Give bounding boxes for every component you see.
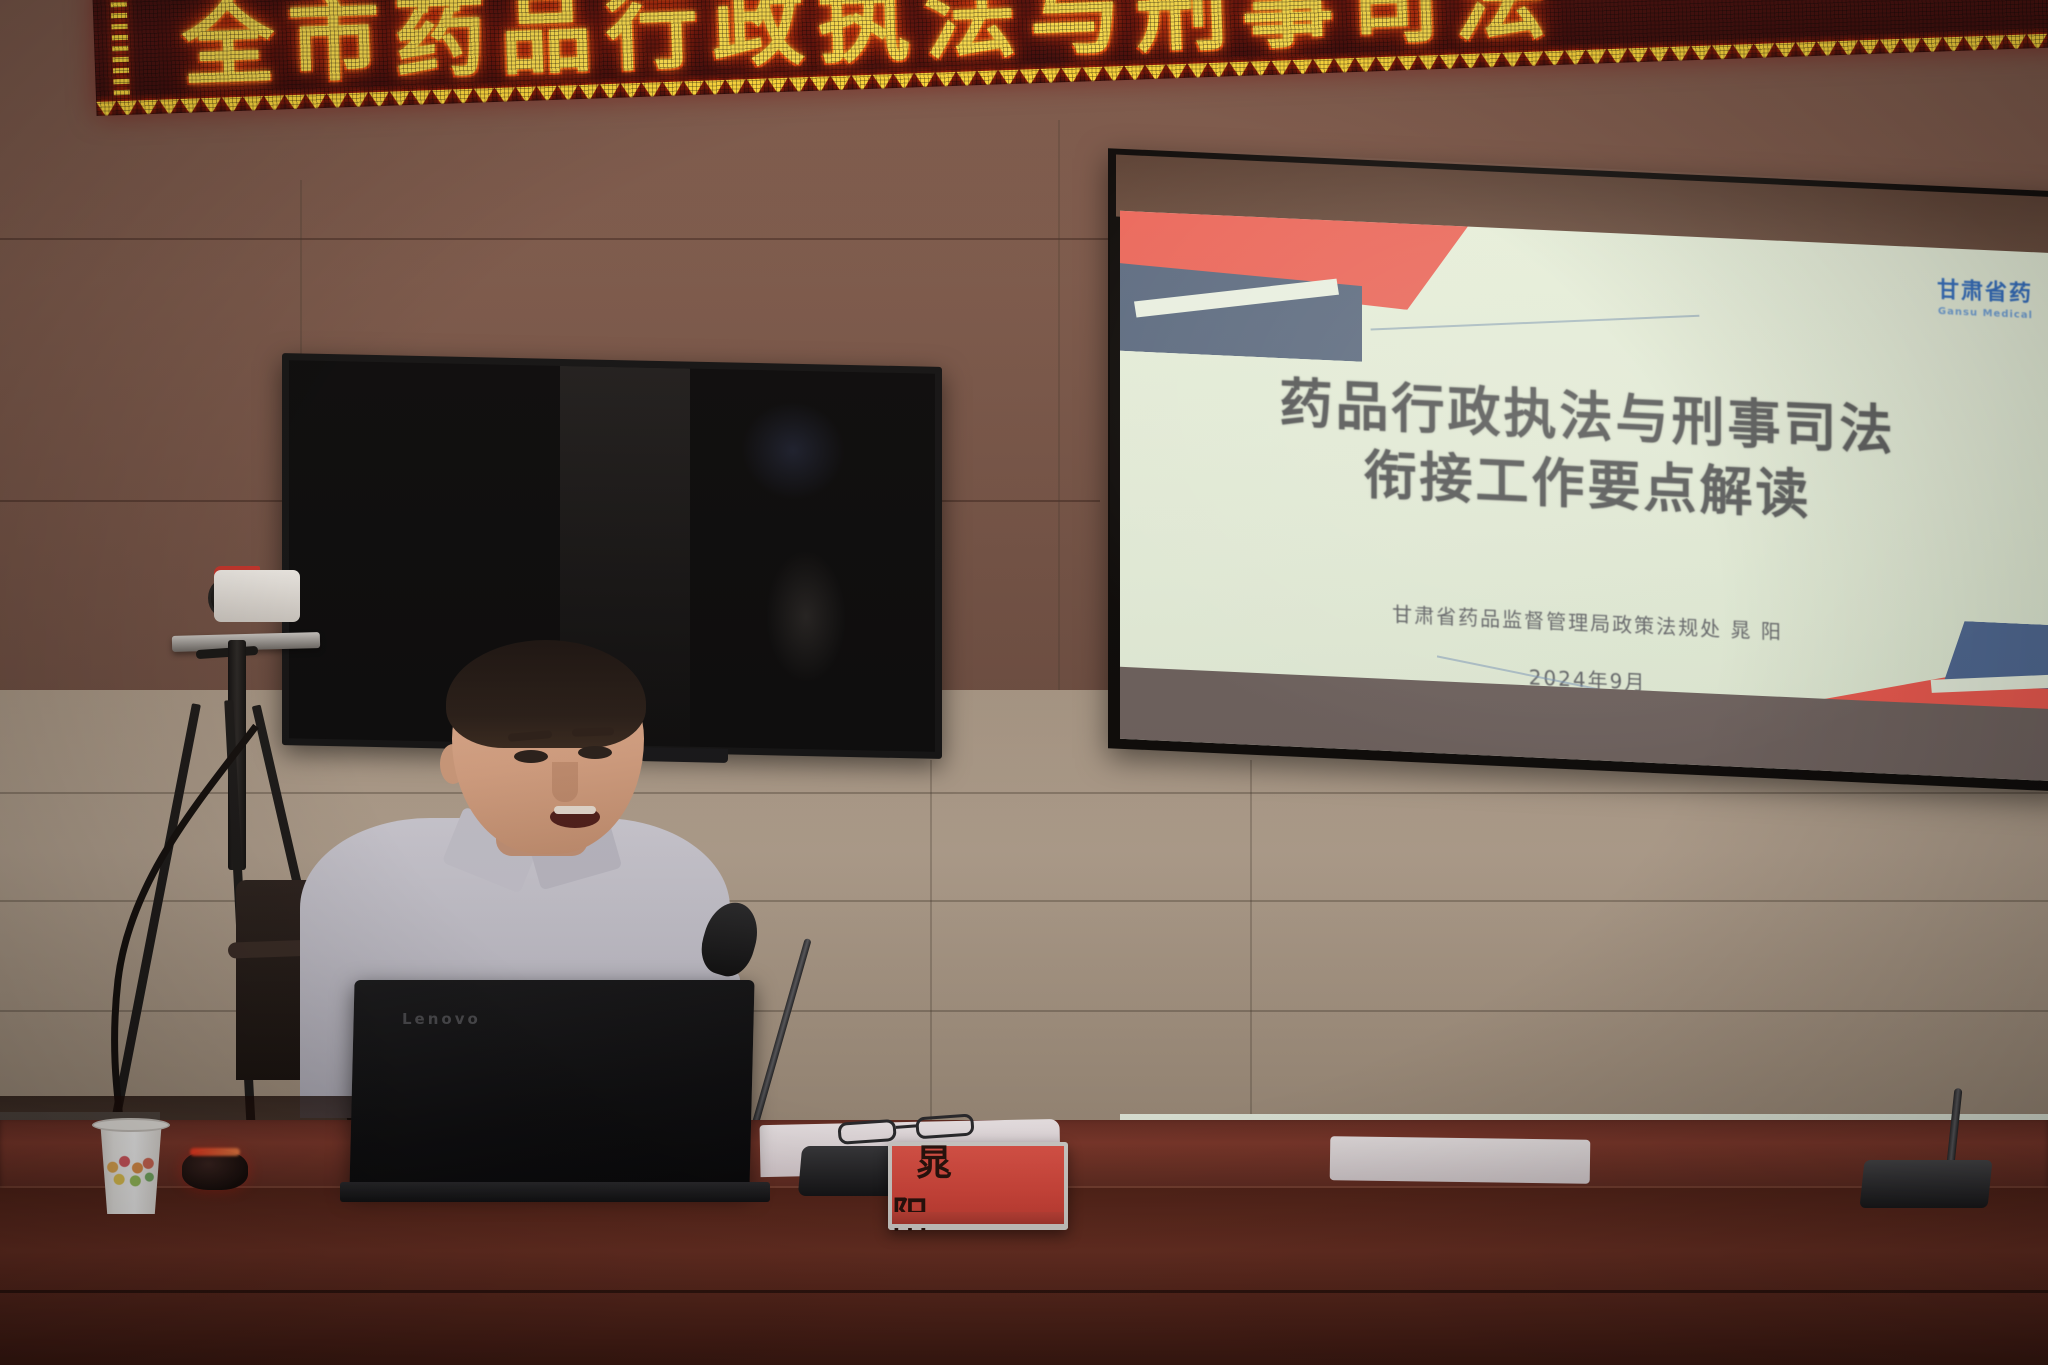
eyeglasses-lens (837, 1119, 896, 1145)
person-eye (578, 746, 612, 759)
desk-seam (0, 1290, 2048, 1293)
mouse-led-glow (190, 1148, 240, 1156)
computer-mouse[interactable] (182, 1150, 248, 1190)
led-triangle (96, 101, 117, 116)
paper-cup-pattern (104, 1152, 158, 1190)
eyeglasses-bridge (896, 1124, 918, 1129)
paper-cup-rim (92, 1118, 170, 1132)
laptop-base[interactable] (340, 1182, 770, 1202)
microphone-base (1859, 1160, 1992, 1208)
wall-seam-vertical (1058, 120, 1060, 720)
led-triangle (138, 100, 159, 116)
slide-logo-english: Gansu Medical (1937, 307, 2033, 321)
slide-title: 药品行政执法与刑事司法 衔接工作要点解读 (1120, 363, 2048, 541)
conference-room-scene: 全市药品行政执法与刑事司法 甘肃省药 Gansu Medical 药品行政执法与… (0, 0, 2048, 1365)
papers-stack (1330, 1136, 1591, 1184)
laptop-brand-label: Lenovo (402, 1010, 481, 1028)
wall-seam-vertical (1250, 760, 1252, 1120)
presentation-slide: 甘肃省药 Gansu Medical 药品行政执法与刑事司法 衔接工作要点解读 … (1120, 211, 2048, 781)
tv-reflection (741, 400, 844, 500)
wall-seam-vertical (930, 760, 932, 1120)
tv-reflection (767, 552, 845, 682)
person-nose (552, 762, 578, 802)
slide-logo: 甘肃省药 Gansu Medical (1937, 280, 2033, 321)
slide-logo-chinese: 甘肃省药 (1937, 280, 2033, 306)
person-eye (514, 750, 548, 763)
led-triangle (117, 100, 138, 115)
slide-presenter-line: 甘肃省药品监督管理局政策法规处 晁 阳 (1120, 586, 2048, 657)
person-teeth (554, 806, 596, 814)
led-border-dots (110, 0, 130, 97)
nameplate-fold (888, 1212, 1068, 1228)
person-eyebrow (572, 727, 614, 736)
ptz-camera-body (214, 570, 300, 622)
slide-decor-hairline (1371, 315, 1700, 331)
